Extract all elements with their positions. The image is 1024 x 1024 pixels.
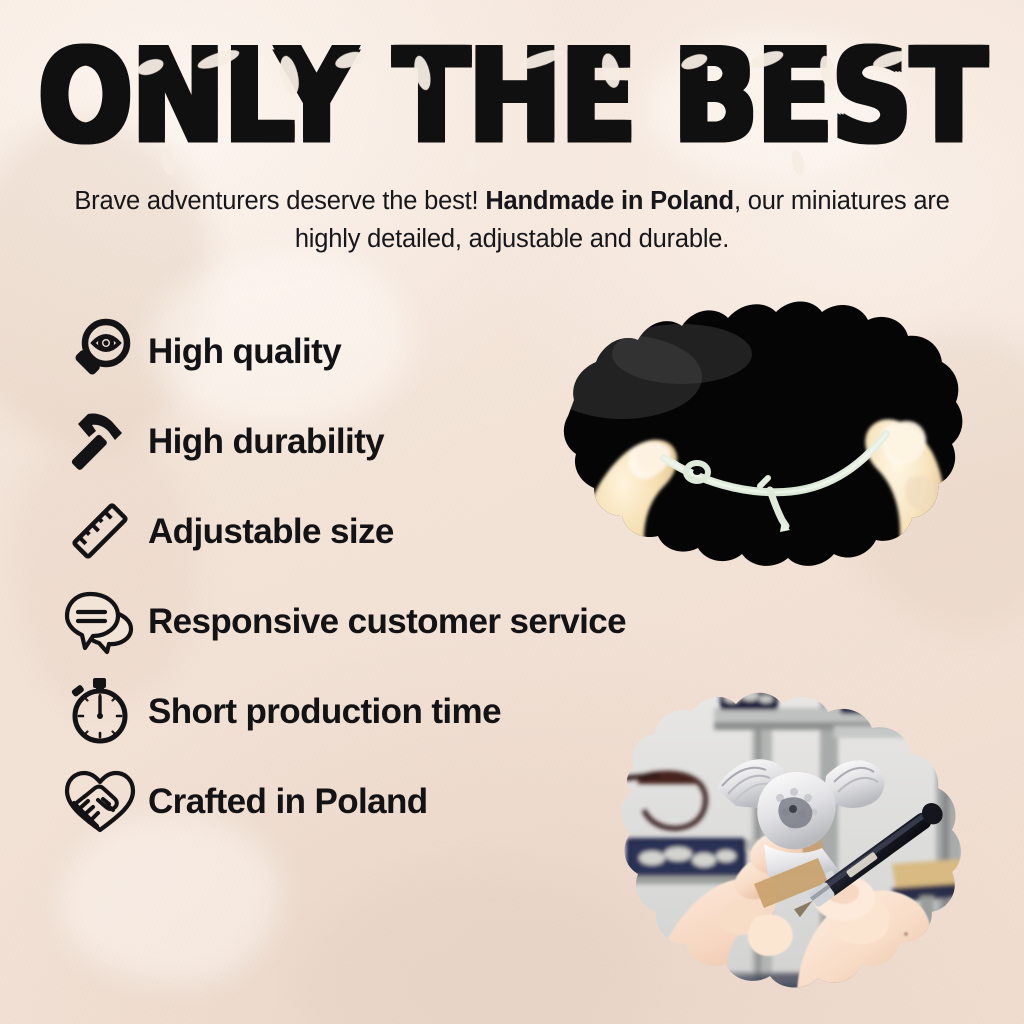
photo-painting-miniature xyxy=(604,672,1024,1024)
feature-label: Responsive customer service xyxy=(148,604,626,639)
photo-flexible-part xyxy=(512,282,982,594)
feature-label: High durability xyxy=(148,424,384,459)
subtitle: Brave adventurers deserve the best! Hand… xyxy=(60,182,964,258)
chat-bubbles-icon xyxy=(62,583,138,659)
page-title: ONLY THE BEST xyxy=(0,34,1024,161)
feature-label: Short production time xyxy=(148,694,501,729)
stopwatch-icon xyxy=(62,673,138,749)
hammer-icon xyxy=(62,403,138,479)
feature-label: High quality xyxy=(148,334,341,369)
feature-label: Adjustable size xyxy=(148,514,394,549)
heart-handshake-icon xyxy=(62,763,138,839)
subtitle-highlight: Handmade in Poland xyxy=(485,187,734,215)
infographic-canvas: ONLY THE BEST Brave adventurers deserve … xyxy=(0,0,1024,1024)
subtitle-part-1: Brave adventurers deserve the best! xyxy=(74,187,485,215)
feature-label: Crafted in Poland xyxy=(148,784,428,819)
magnifier-eye-icon xyxy=(62,313,138,389)
ruler-icon xyxy=(62,493,138,569)
